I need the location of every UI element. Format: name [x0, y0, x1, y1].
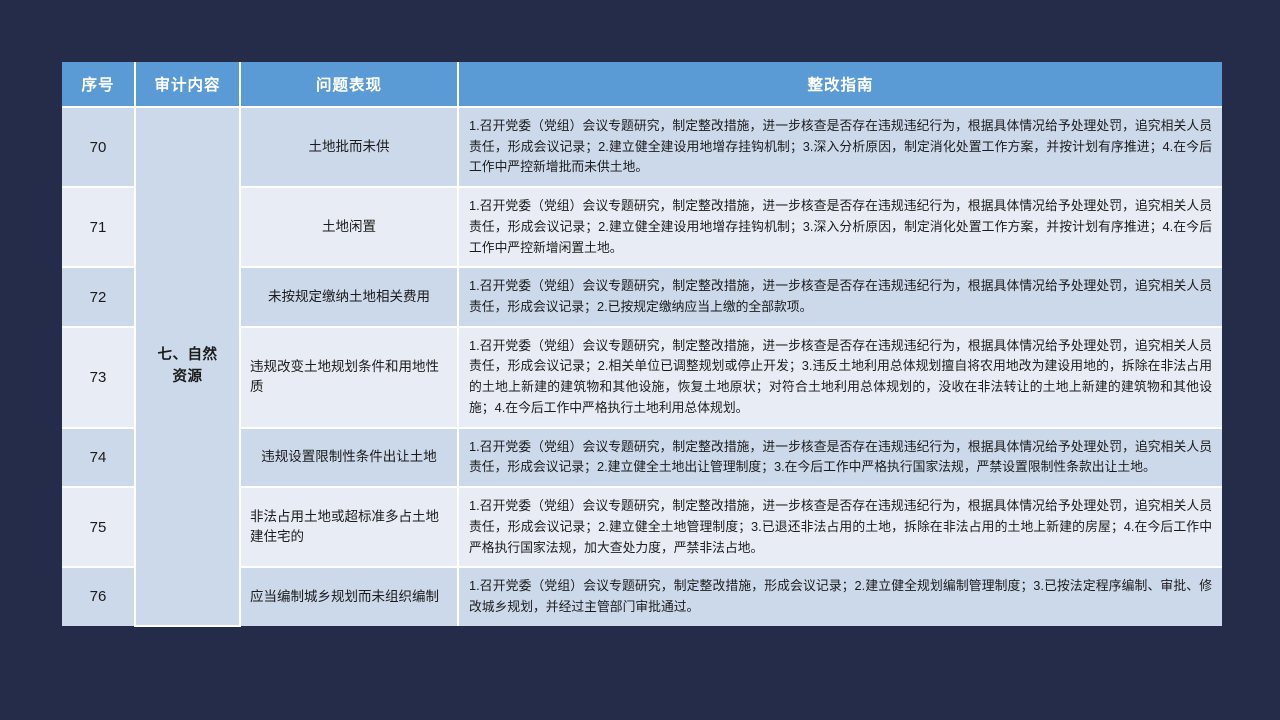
cell-guide: 1.召开党委（党组）会议专题研究，制定整改措施，进一步核查是否存在违规违纪行为，… — [458, 187, 1222, 267]
category-line-2: 资源 — [137, 366, 238, 388]
cell-no: 74 — [62, 428, 135, 487]
cell-issue: 未按规定缴纳土地相关费用 — [240, 267, 458, 326]
cell-guide: 1.召开党委（党组）会议专题研究，制定整改措施，进一步核查是否存在违规违纪行为，… — [458, 267, 1222, 326]
cell-issue: 违规设置限制性条件出让土地 — [240, 428, 458, 487]
column-header-category: 审计内容 — [135, 62, 240, 107]
cell-no: 76 — [62, 567, 135, 625]
table-row: 70 七、自然 资源 土地批而未供 1.召开党委（党组）会议专题研究，制定整改措… — [62, 107, 1222, 187]
cell-category: 七、自然 资源 — [135, 107, 240, 626]
table-header-row: 序号 审计内容 问题表现 整改指南 — [62, 62, 1222, 107]
column-header-no: 序号 — [62, 62, 135, 107]
cell-issue: 违规改变土地规划条件和用地性质 — [240, 327, 458, 428]
table-header: 序号 审计内容 问题表现 整改指南 — [62, 62, 1222, 107]
cell-issue: 非法占用土地或超标准多占土地建住宅的 — [240, 487, 458, 567]
table-body: 70 七、自然 资源 土地批而未供 1.召开党委（党组）会议专题研究，制定整改措… — [62, 107, 1222, 626]
cell-no: 70 — [62, 107, 135, 187]
category-line-1: 七、自然 — [137, 344, 238, 366]
cell-no: 71 — [62, 187, 135, 267]
cell-no: 73 — [62, 327, 135, 428]
audit-table-container: 序号 审计内容 问题表现 整改指南 70 七、自然 资源 土地批而未供 1.召开… — [62, 62, 1222, 662]
column-header-issue: 问题表现 — [240, 62, 458, 107]
cell-issue: 土地批而未供 — [240, 107, 458, 187]
cell-guide: 1.召开党委（党组）会议专题研究，制定整改措施，进一步核查是否存在违规违纪行为，… — [458, 428, 1222, 487]
cell-no: 75 — [62, 487, 135, 567]
cell-guide: 1.召开党委（党组）会议专题研究，制定整改措施，进一步核查是否存在违规违纪行为，… — [458, 487, 1222, 567]
slide-canvas: 序号 审计内容 问题表现 整改指南 70 七、自然 资源 土地批而未供 1.召开… — [0, 0, 1280, 720]
cell-guide: 1.召开党委（党组）会议专题研究，制定整改措施，进一步核查是否存在违规违纪行为，… — [458, 327, 1222, 428]
cell-guide: 1.召开党委（党组）会议专题研究，制定整改措施，形成会议记录；2.建立健全规划编… — [458, 567, 1222, 625]
cell-issue: 应当编制城乡规划而未组织编制 — [240, 567, 458, 625]
cell-guide: 1.召开党委（党组）会议专题研究，制定整改措施，进一步核查是否存在违规违纪行为，… — [458, 107, 1222, 187]
audit-table: 序号 审计内容 问题表现 整改指南 70 七、自然 资源 土地批而未供 1.召开… — [62, 62, 1222, 627]
cell-no: 72 — [62, 267, 135, 326]
column-header-guide: 整改指南 — [458, 62, 1222, 107]
cell-issue: 土地闲置 — [240, 187, 458, 267]
